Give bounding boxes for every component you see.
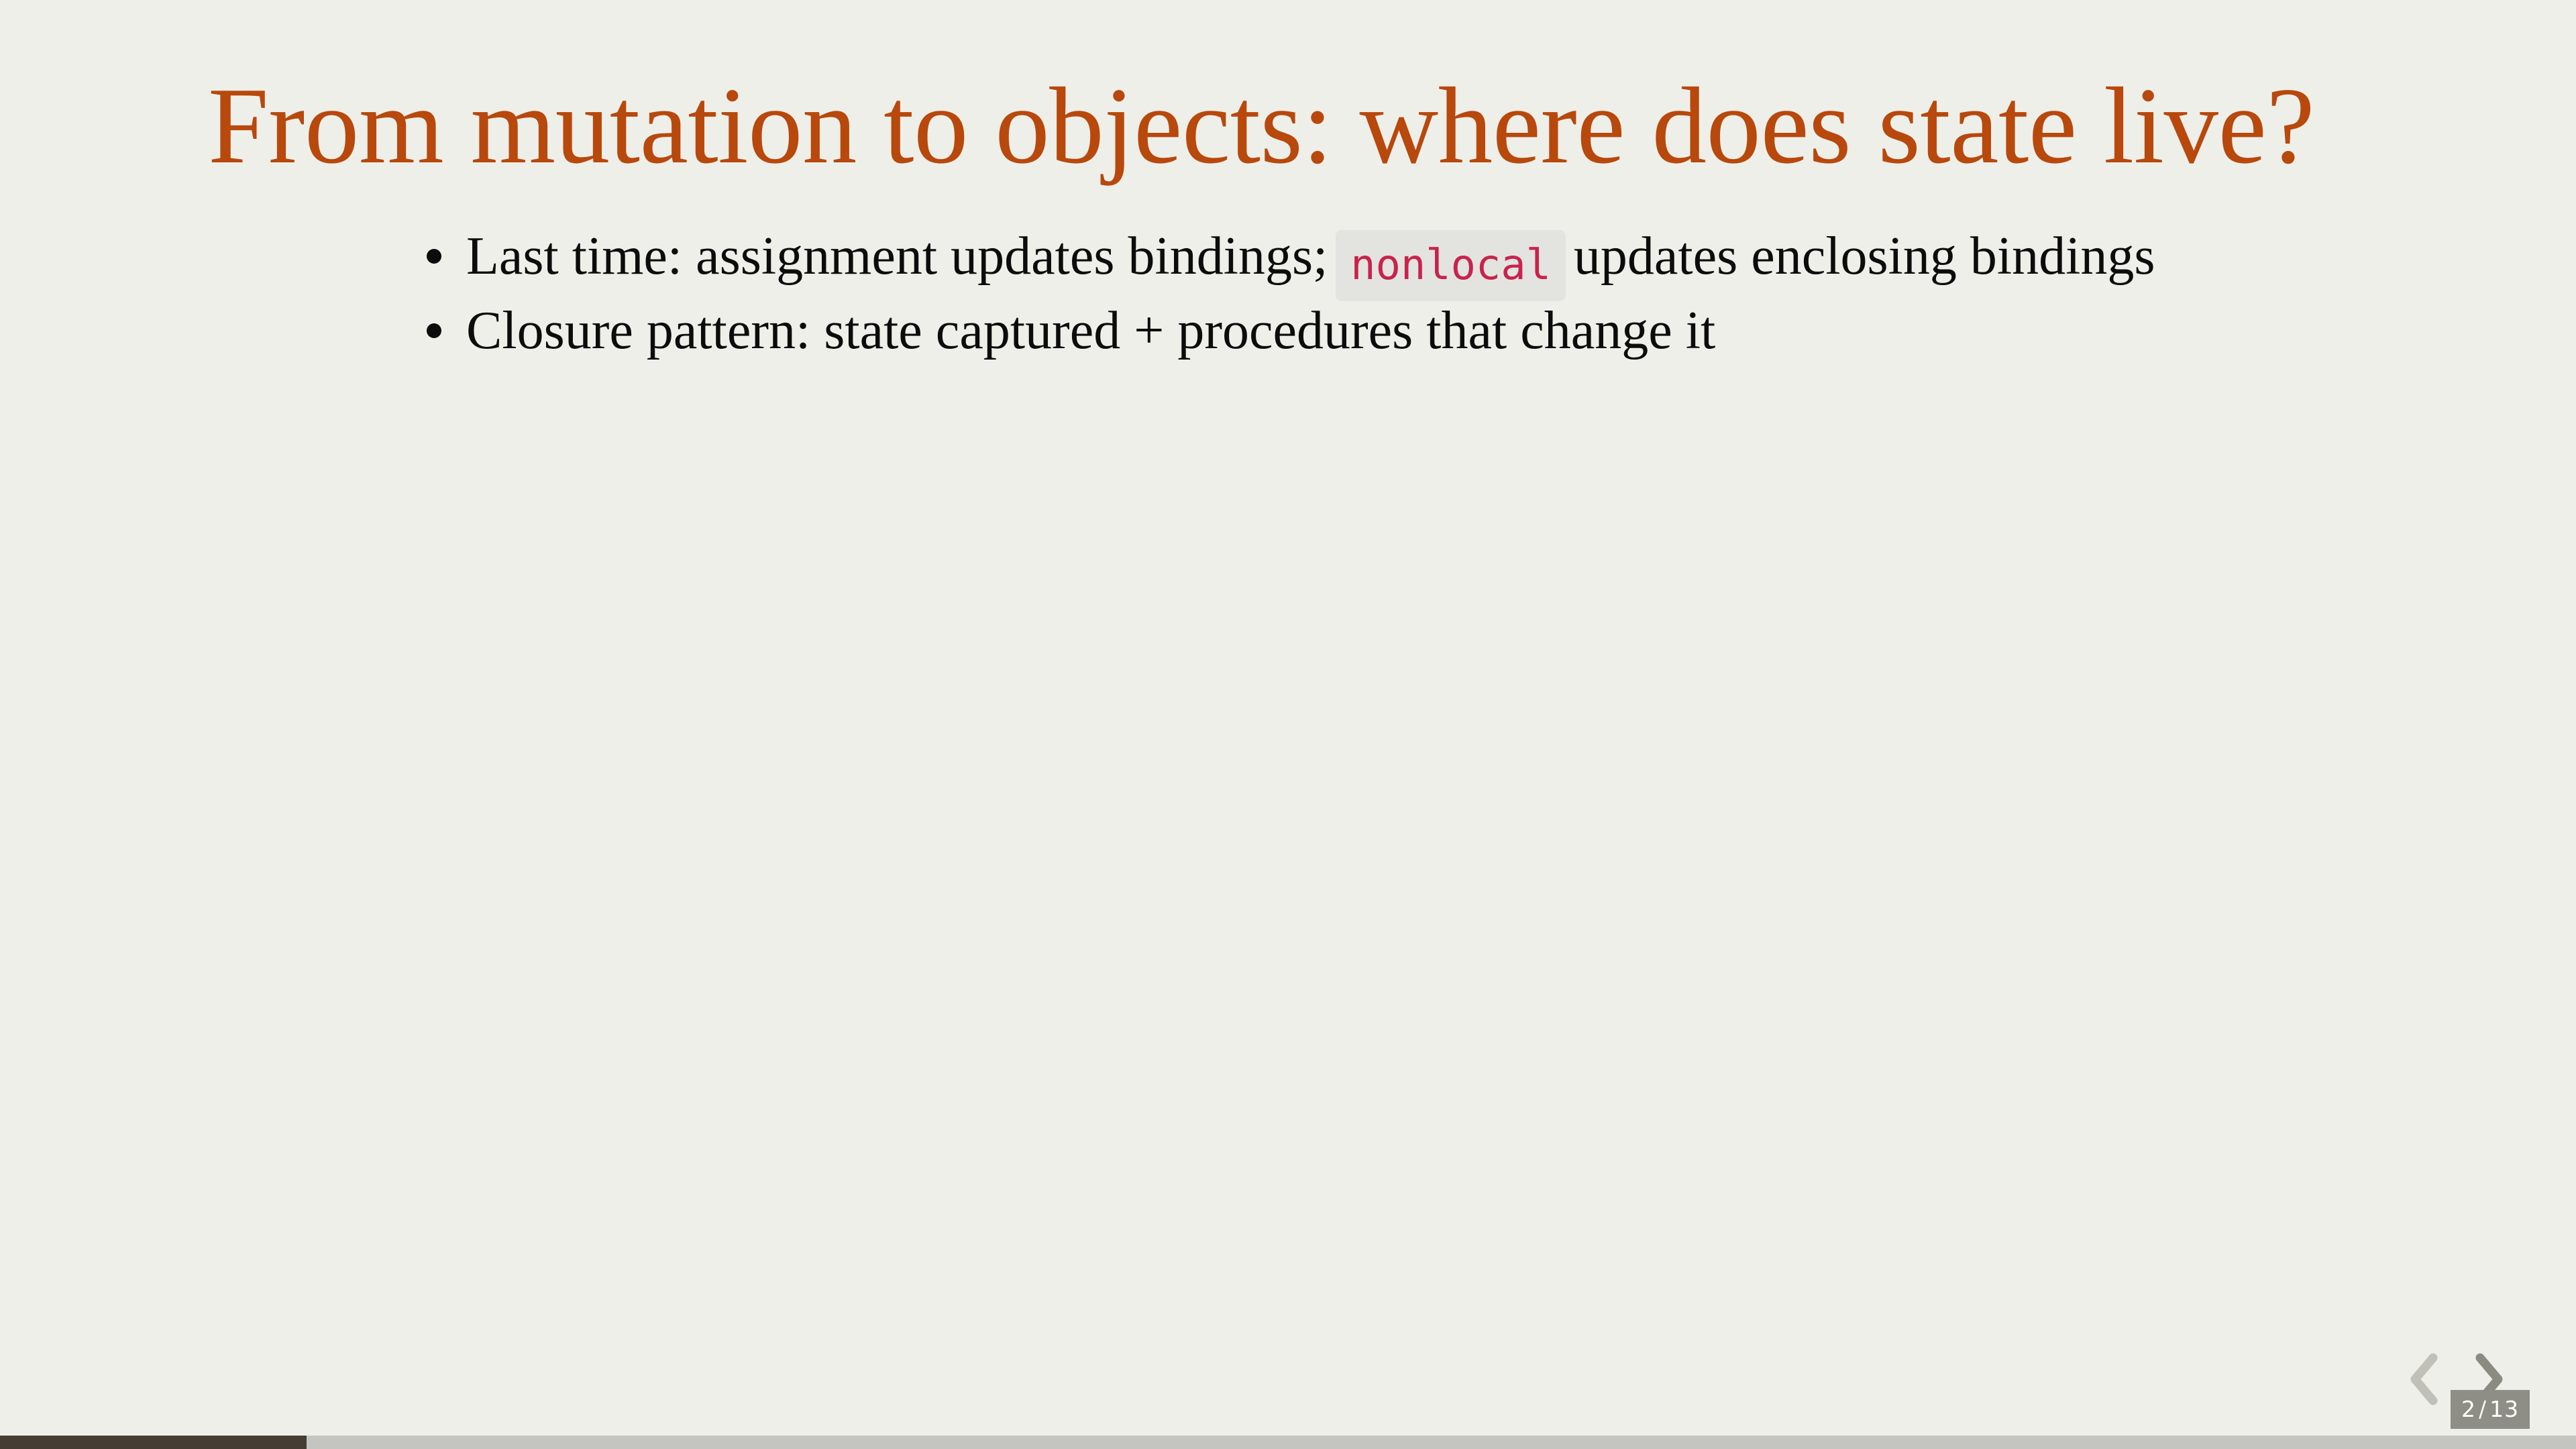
bullet-text-after: updates enclosing bindings	[1574, 227, 2155, 286]
list-item: Closure pattern: state captured + proced…	[402, 296, 2482, 366]
current-slide-number: 2	[2461, 1396, 2476, 1422]
list-item: Last time: assignment updates bindings;n…	[402, 221, 2482, 296]
progress-bar-track[interactable]	[0, 1436, 2576, 1449]
slide-counter-badge[interactable]: 2/13	[2451, 1390, 2530, 1429]
progress-bar-fill	[0, 1436, 307, 1449]
bullet-point-icon	[423, 221, 445, 291]
bullet-text-before: Closure pattern: state captured + proced…	[466, 301, 1715, 360]
page-title: From mutation to objects: where does sta…	[208, 70, 2422, 182]
bullet-point-icon	[423, 296, 445, 366]
slide-content: Last time: assignment updates bindings;n…	[402, 221, 2482, 366]
slide-canvas: From mutation to objects: where does sta…	[0, 0, 2576, 1449]
bullet-text-before: Last time: assignment updates bindings;	[466, 227, 1328, 286]
inline-code-nonlocal: nonlocal	[1336, 230, 1566, 301]
total-slide-number: 13	[2489, 1396, 2519, 1422]
chevron-left-icon	[2402, 1350, 2446, 1409]
counter-separator: /	[2479, 1396, 2487, 1422]
bullet-list: Last time: assignment updates bindings;n…	[402, 221, 2482, 366]
previous-slide-button[interactable]	[2402, 1350, 2446, 1409]
slide-navigation: 2/13	[2395, 1338, 2576, 1438]
